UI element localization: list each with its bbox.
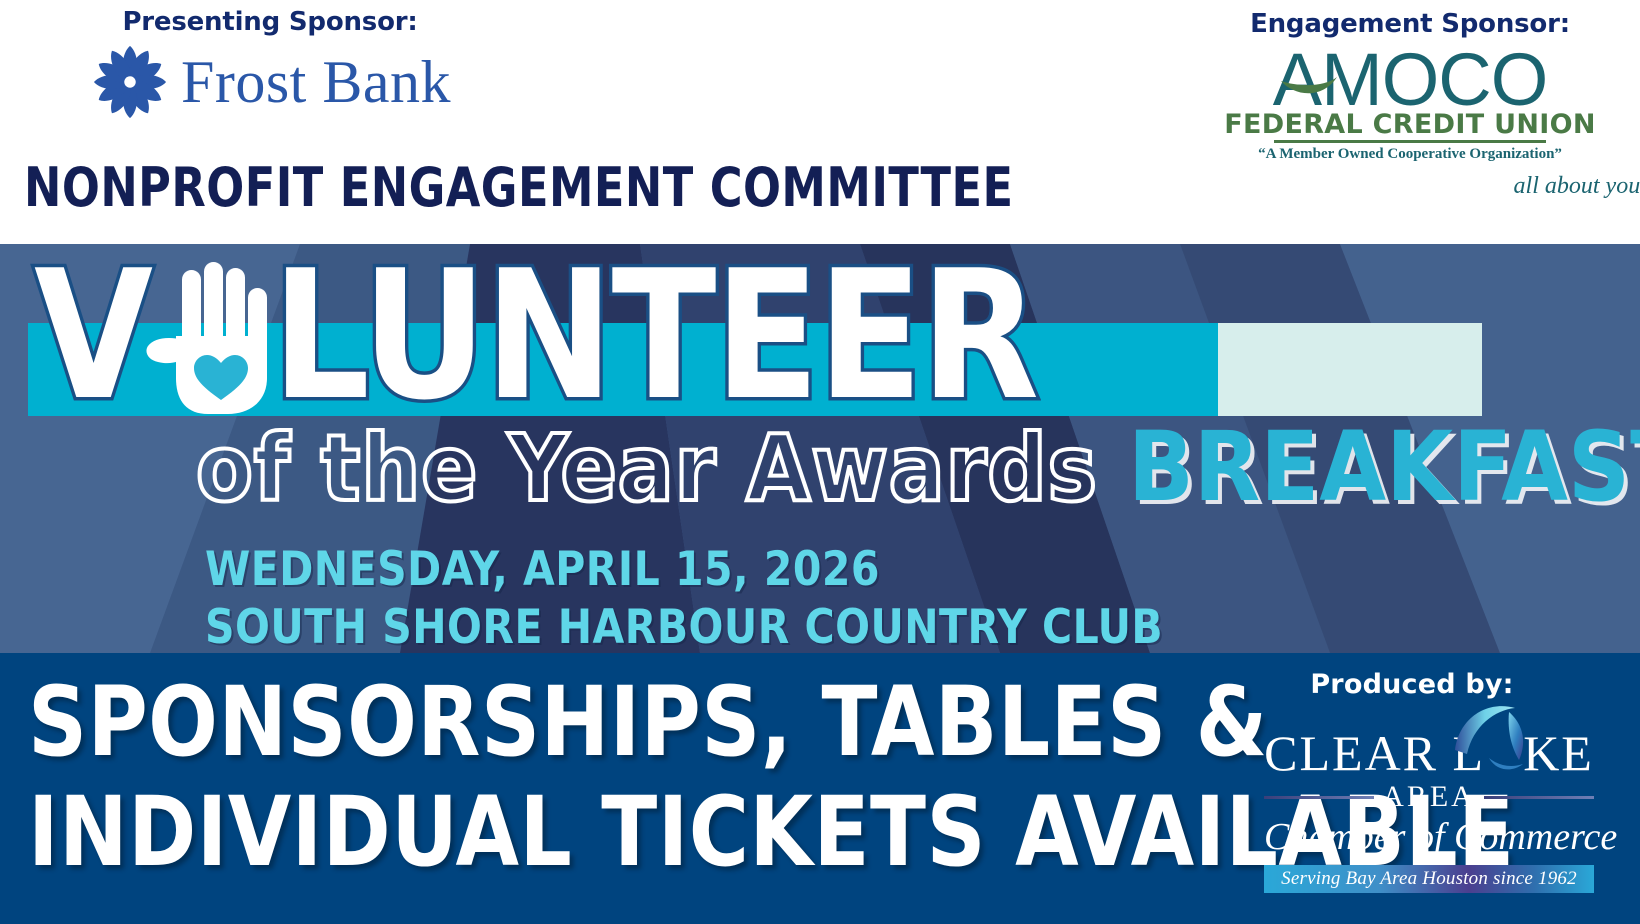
engagement-sponsor-label: Engagement Sponsor: — [1210, 10, 1610, 39]
hand-heart-glyph — [146, 262, 278, 414]
chamber-name-line3: Chamber of Commerce — [1264, 816, 1594, 860]
frost-bank-wordmark: Frost Bank — [181, 52, 451, 112]
chamber-name-line1: CLEAR LAKE — [1264, 725, 1594, 781]
producer-block: Produced by: CLEAR LAKE — [1212, 669, 1612, 893]
chamber-name-row: CLEAR LAKE — [1264, 720, 1594, 786]
chamber-rule-right — [1484, 796, 1594, 799]
event-details: WEDNESDAY, APRIL 15, 2026 SOUTH SHORE HA… — [205, 541, 1193, 653]
amoco-script-text: all about you — [1514, 173, 1640, 199]
amoco-logo: AMOCO FEDERAL CREDIT UNION “A Member Own… — [1210, 41, 1610, 200]
amoco-divider — [1274, 140, 1546, 143]
awards-subtitle: of the Year Awards — [196, 423, 1098, 515]
clear-lake-area-chamber-of-commerce-logo: CLEAR LAKE — [1264, 720, 1594, 893]
hero-section: V — [0, 244, 1640, 653]
chamber-rule-left — [1264, 796, 1374, 799]
amoco-script-tagline: all about you™ — [1514, 173, 1640, 200]
meal-type-label: BREAKFAST — [1128, 419, 1640, 515]
presenting-sponsor-block: Presenting Sponsor: — [55, 8, 485, 123]
engagement-sponsor-block: Engagement Sponsor: AMOCO FEDERAL CREDIT… — [1210, 10, 1610, 200]
event-date: WEDNESDAY, APRIL 15, 2026 — [205, 541, 1163, 599]
sailboat-swoosh-icon — [1449, 698, 1539, 782]
headline-banner-accent — [1218, 323, 1482, 416]
amoco-wordmark-icon: AMOCO — [1265, 41, 1555, 117]
event-flyer: Presenting Sponsor: — [0, 0, 1640, 924]
subtitle-row: of the Year Awards BREAKFAST — [196, 419, 1640, 515]
event-venue: SOUTH SHORE HARBOUR COUNTRY CLUB — [205, 599, 1163, 653]
committee-title: NONPROFIT ENGAGEMENT COMMITTEE — [24, 161, 1013, 215]
call-to-action-band: SPONSORSHIPS, TABLES & INDIVIDUAL TICKET… — [0, 653, 1640, 924]
amoco-tagline: “A Member Owned Cooperative Organization… — [1258, 146, 1562, 163]
volunteer-wordmark: V — [34, 256, 1069, 416]
frost-bank-logo: Frost Bank — [55, 41, 485, 123]
chamber-tagline-bar: Serving Bay Area Houston since 1962 — [1264, 865, 1594, 893]
sponsor-header: Presenting Sponsor: — [0, 0, 1640, 244]
volunteer-text-part1: V — [34, 256, 151, 416]
frost-bank-pinwheel-icon — [89, 41, 171, 123]
chamber-tagline: Serving Bay Area Houston since 1962 — [1281, 868, 1577, 890]
amoco-subtitle: FEDERAL CREDIT UNION — [1224, 111, 1595, 139]
produced-by-label: Produced by: — [1212, 669, 1612, 700]
svg-text:AMOCO: AMOCO — [1273, 41, 1548, 117]
volunteer-text-part2: LUNTEER — [272, 256, 1037, 416]
helping-hand-heart-icon — [146, 256, 278, 416]
presenting-sponsor-label: Presenting Sponsor: — [55, 8, 485, 37]
